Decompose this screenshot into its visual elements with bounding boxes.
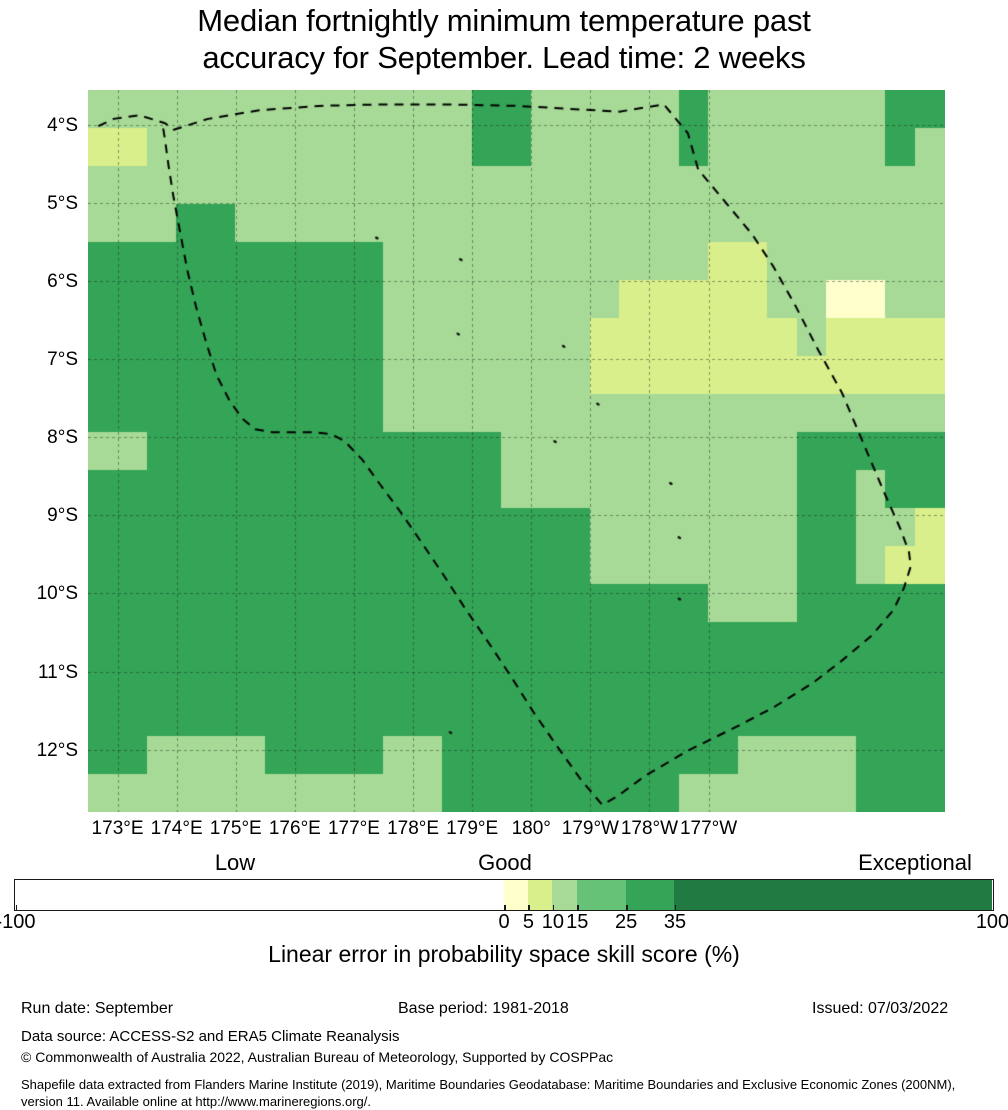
x-tick-label: 178°W: [621, 818, 678, 840]
y-tick-label: 6°S: [0, 271, 78, 293]
x-axis-ticks: 173°E174°E175°E176°E177°E178°E179°E180°1…: [0, 818, 1008, 844]
colorbar-quality-label: Low: [215, 850, 255, 876]
copyright-notice: © Commonwealth of Australia 2022, Austra…: [21, 1049, 613, 1065]
y-tick-label: 8°S: [0, 427, 78, 449]
shapefile-attribution: Shapefile data extracted from Flanders M…: [21, 1076, 991, 1110]
colorbar-segment: [15, 880, 504, 910]
data-source: Data source: ACCESS-S2 and ERA5 Climate …: [21, 1028, 400, 1045]
x-tick-label: 177°E: [328, 818, 380, 840]
colorbar-segment: [504, 880, 528, 910]
y-tick-label: 4°S: [0, 115, 78, 137]
y-tick-label: 10°S: [0, 583, 78, 605]
x-tick-label: 174°E: [151, 818, 203, 840]
colorbar-segment: [674, 880, 992, 910]
colorbar-tick-mark: [16, 905, 18, 911]
x-tick-label: 173°E: [92, 818, 144, 840]
y-tick-label: 7°S: [0, 349, 78, 371]
colorbar-tick-mark: [553, 905, 555, 911]
colorbar-tick-label: 5: [523, 911, 534, 934]
x-tick-label: 177°W: [680, 818, 737, 840]
colorbar-tick-label: 25: [615, 911, 637, 934]
y-tick-label: 12°S: [0, 740, 78, 762]
colorbar-tick-label: 35: [664, 911, 686, 934]
colorbar-quality-label: Exceptional: [858, 850, 972, 876]
colorbar-segment: [552, 880, 576, 910]
issued-date: Issued: 07/03/2022: [812, 1000, 948, 1018]
colorbar-segment: [528, 880, 552, 910]
footer: Run date: September Base period: 1981-20…: [0, 1000, 1008, 1023]
colorbar-tick-label: -100: [0, 911, 36, 934]
x-tick-label: 179°E: [446, 818, 498, 840]
x-tick-label: 179°W: [562, 818, 619, 840]
colorbar-tick-label: 100: [976, 911, 1008, 934]
x-tick-label: 176°E: [269, 818, 321, 840]
colorbar-tick-mark: [577, 905, 579, 911]
colorbar-tick-mark: [675, 905, 677, 911]
colorbar-quality-labels: LowGoodExceptional: [0, 850, 1008, 876]
colorbar-quality-label: Good: [478, 850, 532, 876]
colorbar-tick-mark: [528, 905, 530, 911]
colorbar-segment: [626, 880, 675, 910]
colorbar-tick-mark: [504, 905, 506, 911]
colorbar-tick-mark: [993, 905, 995, 911]
y-tick-label: 11°S: [0, 662, 78, 684]
colorbar-tick-label: 10: [542, 911, 564, 934]
colorbar-tick-label: 0: [498, 911, 509, 934]
colorbar-tick-label: 15: [566, 911, 588, 934]
colorbar-tick-labels: -1000510152535100: [0, 911, 1008, 935]
base-period: Base period: 1981-2018: [398, 1000, 569, 1018]
x-tick-label: 175°E: [210, 818, 262, 840]
run-date: Run date: September: [21, 1000, 173, 1018]
y-tick-label: 5°S: [0, 193, 78, 215]
x-tick-label: 180°: [512, 818, 551, 840]
colorbar-axis-label: Linear error in probability space skill …: [0, 941, 1008, 968]
colorbar-tick-mark: [626, 905, 628, 911]
colorbar-segment: [577, 880, 626, 910]
footer-row-primary: Run date: September Base period: 1981-20…: [0, 1000, 1008, 1023]
y-tick-label: 9°S: [0, 505, 78, 527]
x-tick-label: 178°E: [387, 818, 439, 840]
